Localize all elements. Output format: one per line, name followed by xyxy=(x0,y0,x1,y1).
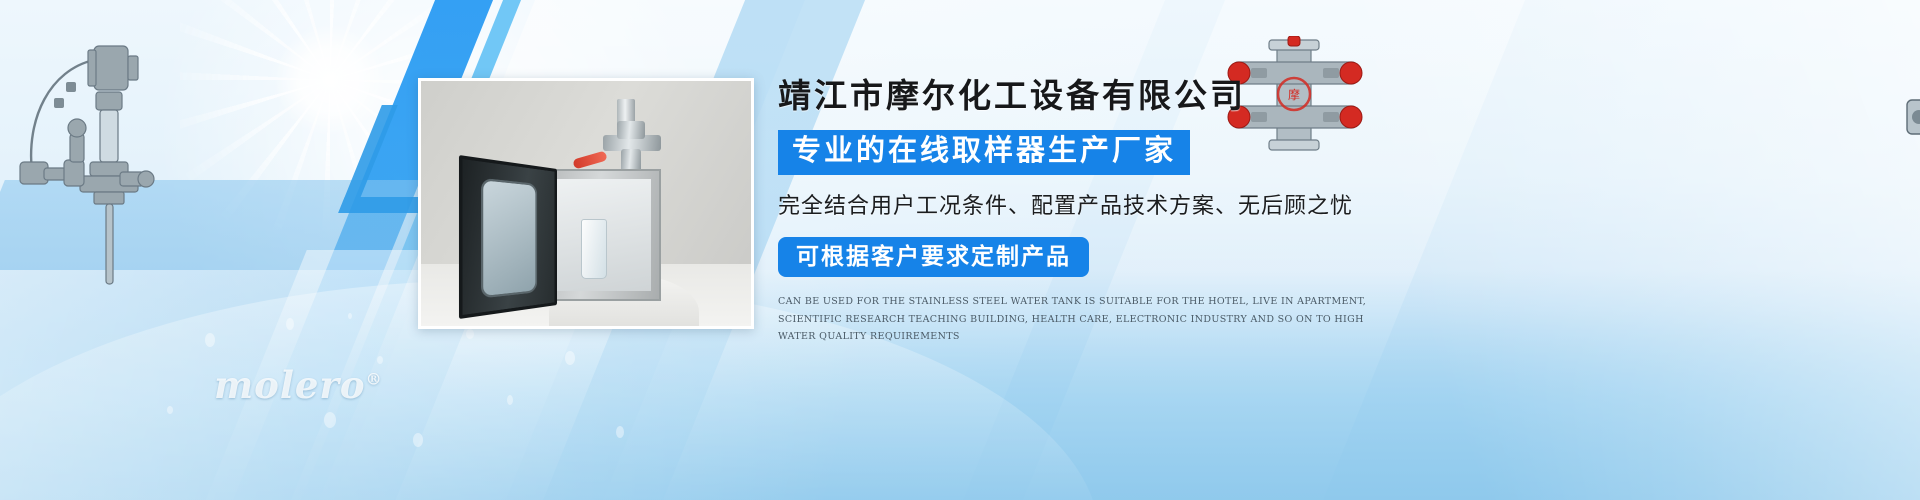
lever-operated-valve-image xyxy=(1895,26,1920,216)
english-paragraph: CAN BE USED FOR THE STAINLESS STEEL WATE… xyxy=(778,293,1378,346)
registered-mark-icon: ® xyxy=(366,370,383,389)
promo-banner: 摩 xyxy=(0,0,1920,500)
banner-copy: 靖江市摩尔化工设备有限公司 专业的在线取样器生产厂家 完全结合用户工况条件、配置… xyxy=(778,78,1398,355)
photo-cabinet-door xyxy=(459,155,557,319)
custom-badge-wrap: 可根据客户要求定制产品 xyxy=(778,219,1398,277)
product-photo xyxy=(418,78,754,329)
watermark-logo: molero® xyxy=(214,363,383,407)
photo-sample-bottle xyxy=(581,219,607,279)
photo-cabinet xyxy=(547,169,661,301)
headline-highlight: 专业的在线取样器生产厂家 xyxy=(778,130,1190,174)
custom-product-badge: 可根据客户要求定制产品 xyxy=(778,237,1089,277)
subline: 完全结合用户工况条件、配置产品技术方案、无后顾之忧 xyxy=(778,193,1398,219)
sun-core-glow xyxy=(275,25,385,135)
headline-highlight-wrap: 专业的在线取样器生产厂家 xyxy=(778,130,1398,174)
photo-door-window xyxy=(481,178,537,299)
photo-cabinet-interior xyxy=(557,179,651,291)
company-name: 靖江市摩尔化工设备有限公司 xyxy=(778,78,1398,114)
sampler-assembly-left-image xyxy=(10,22,160,302)
watermark-text: molero xyxy=(214,363,366,407)
